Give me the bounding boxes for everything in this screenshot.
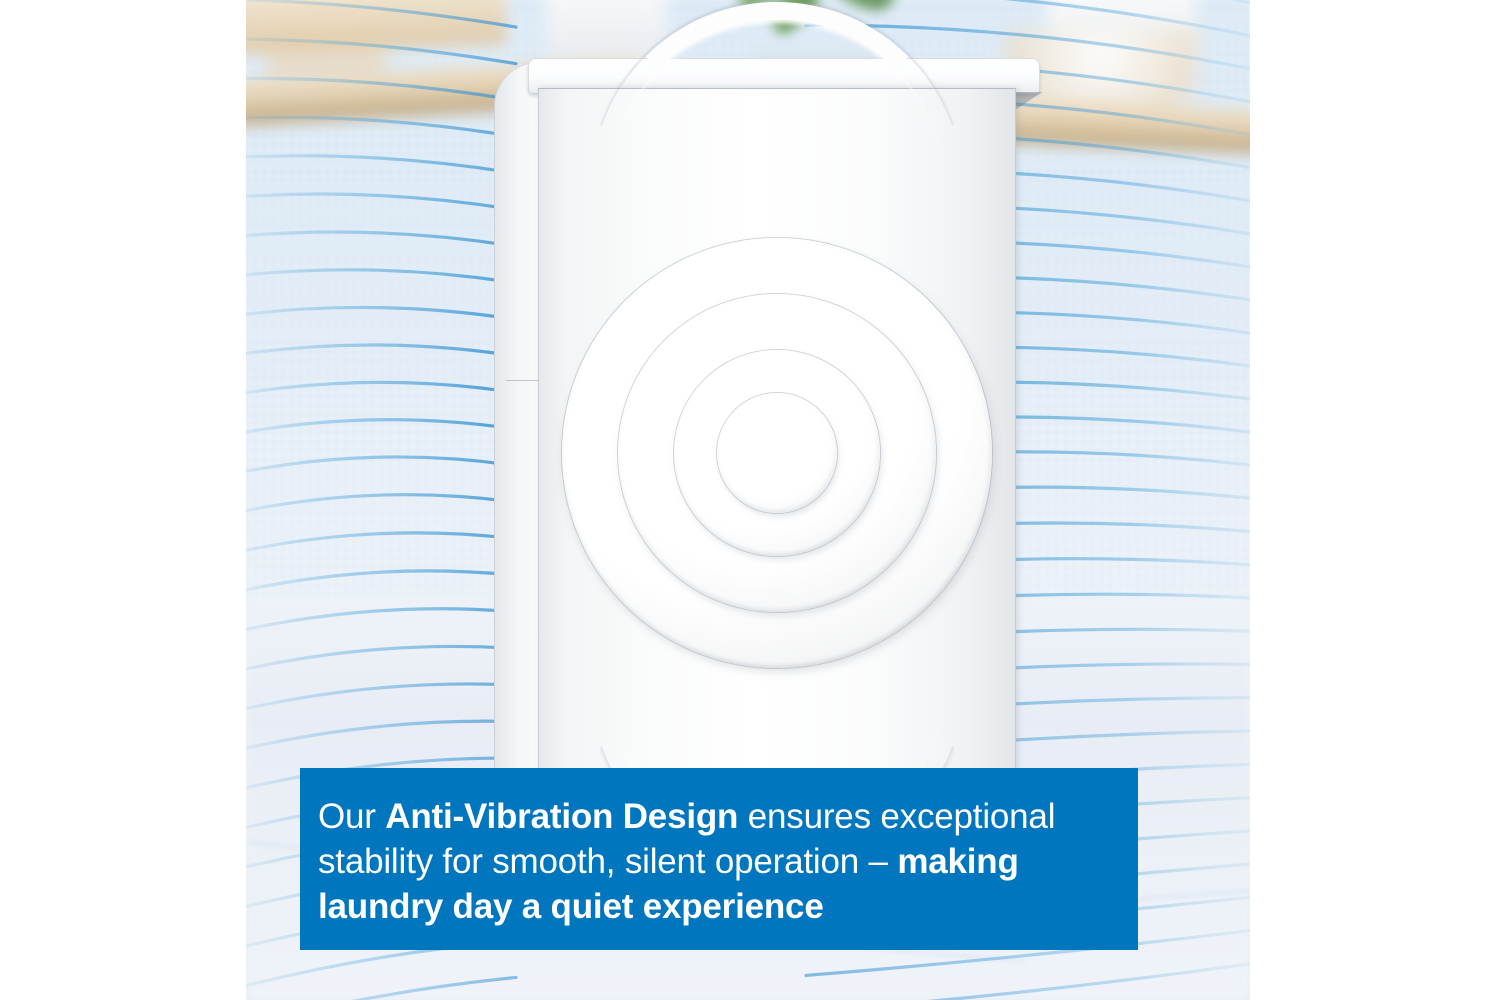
caption-line3-bold: laundry day a quiet experience (318, 887, 824, 926)
caption-line2: stability for smooth, silent operation – (318, 842, 897, 881)
caption-banner: Our Anti-Vibration Design ensures except… (300, 768, 1138, 950)
caption-text: Our Anti-Vibration Design ensures except… (318, 794, 1104, 929)
machine-rear-panel (538, 88, 1016, 798)
poster-canvas: Our Anti-Vibration Design ensures except… (0, 0, 1500, 1000)
caption-line1-suffix: ensures exceptional (738, 797, 1055, 836)
washing-machine (486, 58, 1046, 798)
concentric-rings-group (538, 88, 1016, 798)
caption-line1-bold: Anti-Vibration Design (385, 797, 738, 836)
ring-center (717, 393, 837, 513)
caption-line2-bold: making (897, 842, 1018, 881)
caption-line1-prefix: Our (318, 797, 385, 836)
